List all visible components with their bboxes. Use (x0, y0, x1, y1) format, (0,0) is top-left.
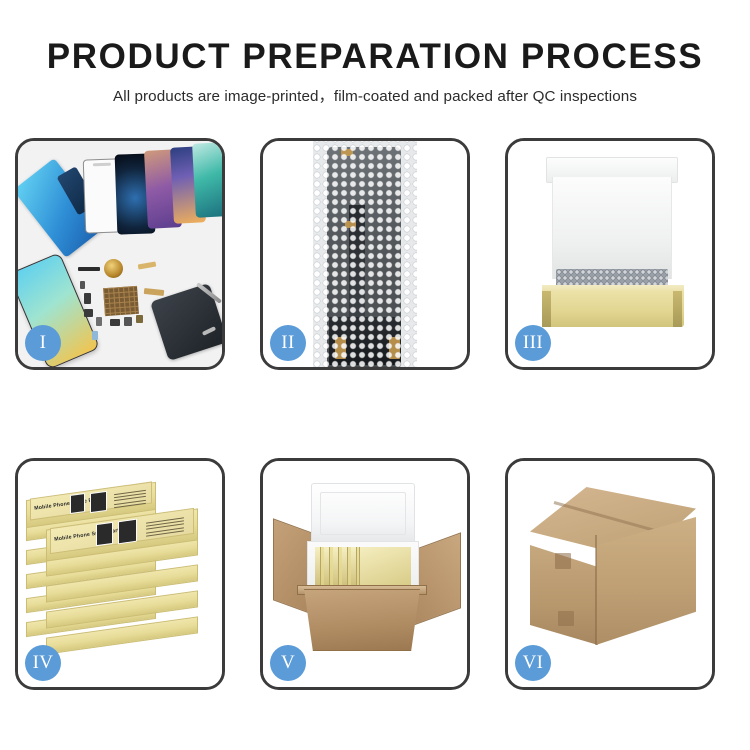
component-part-icon (80, 281, 85, 289)
step-badge-1: I (25, 325, 61, 361)
step-badge-4: IV (25, 645, 61, 681)
box-side-left-icon (542, 291, 551, 327)
step-badge-2: II (270, 325, 306, 361)
step-badge-5: V (270, 645, 306, 681)
box-front-icon (542, 291, 684, 327)
page-subtitle: All products are image-printed，film-coat… (0, 84, 750, 106)
box-window-icon (70, 493, 85, 514)
process-step-5[interactable]: V (260, 458, 470, 690)
process-step-3[interactable]: III (505, 138, 715, 370)
component-part-icon (84, 293, 91, 304)
chip-grid-icon (103, 286, 139, 316)
process-step-4[interactable]: Mobile Phone Spare Parts Mobile Phone Sp… (15, 458, 225, 690)
carton-front-icon (299, 589, 425, 651)
packed-boxes-icon (315, 547, 411, 587)
process-step-1[interactable]: I (15, 138, 225, 370)
carton-flap-right-icon (413, 532, 461, 625)
component-part-icon (92, 331, 98, 340)
component-part-icon (110, 319, 120, 326)
process-step-2[interactable]: II (260, 138, 470, 370)
component-part-icon (84, 309, 93, 317)
product-preparation-infographic: PRODUCT PREPARATION PROCESS All products… (0, 0, 750, 750)
process-step-grid: I II (15, 138, 735, 690)
foam-lid-icon (311, 483, 415, 545)
step-badge-6: VI (515, 645, 551, 681)
component-part-icon (124, 317, 132, 326)
box-window-icon (118, 519, 137, 545)
carton-tape-icon (558, 611, 574, 626)
carton-tape-icon (555, 553, 571, 569)
box-window-icon (90, 491, 107, 513)
bubble-wrap-overlay-icon (313, 141, 417, 367)
flex-cable-icon (78, 267, 100, 271)
box-window-icon (96, 522, 113, 546)
gold-connector-icon (138, 261, 157, 269)
header: PRODUCT PREPARATION PROCESS All products… (0, 0, 750, 106)
carton-edge-icon (595, 535, 597, 645)
gold-flex-icon (144, 288, 165, 296)
component-part-icon (96, 317, 102, 326)
speaker-coil-icon (104, 259, 123, 278)
foam-sheet-icon (552, 177, 672, 279)
box-side-right-icon (673, 291, 682, 327)
component-part-icon (136, 315, 143, 323)
page-title: PRODUCT PREPARATION PROCESS (0, 38, 750, 75)
phone-teal-icon (192, 142, 222, 218)
process-step-6[interactable]: VI (505, 458, 715, 690)
step-badge-3: III (515, 325, 551, 361)
